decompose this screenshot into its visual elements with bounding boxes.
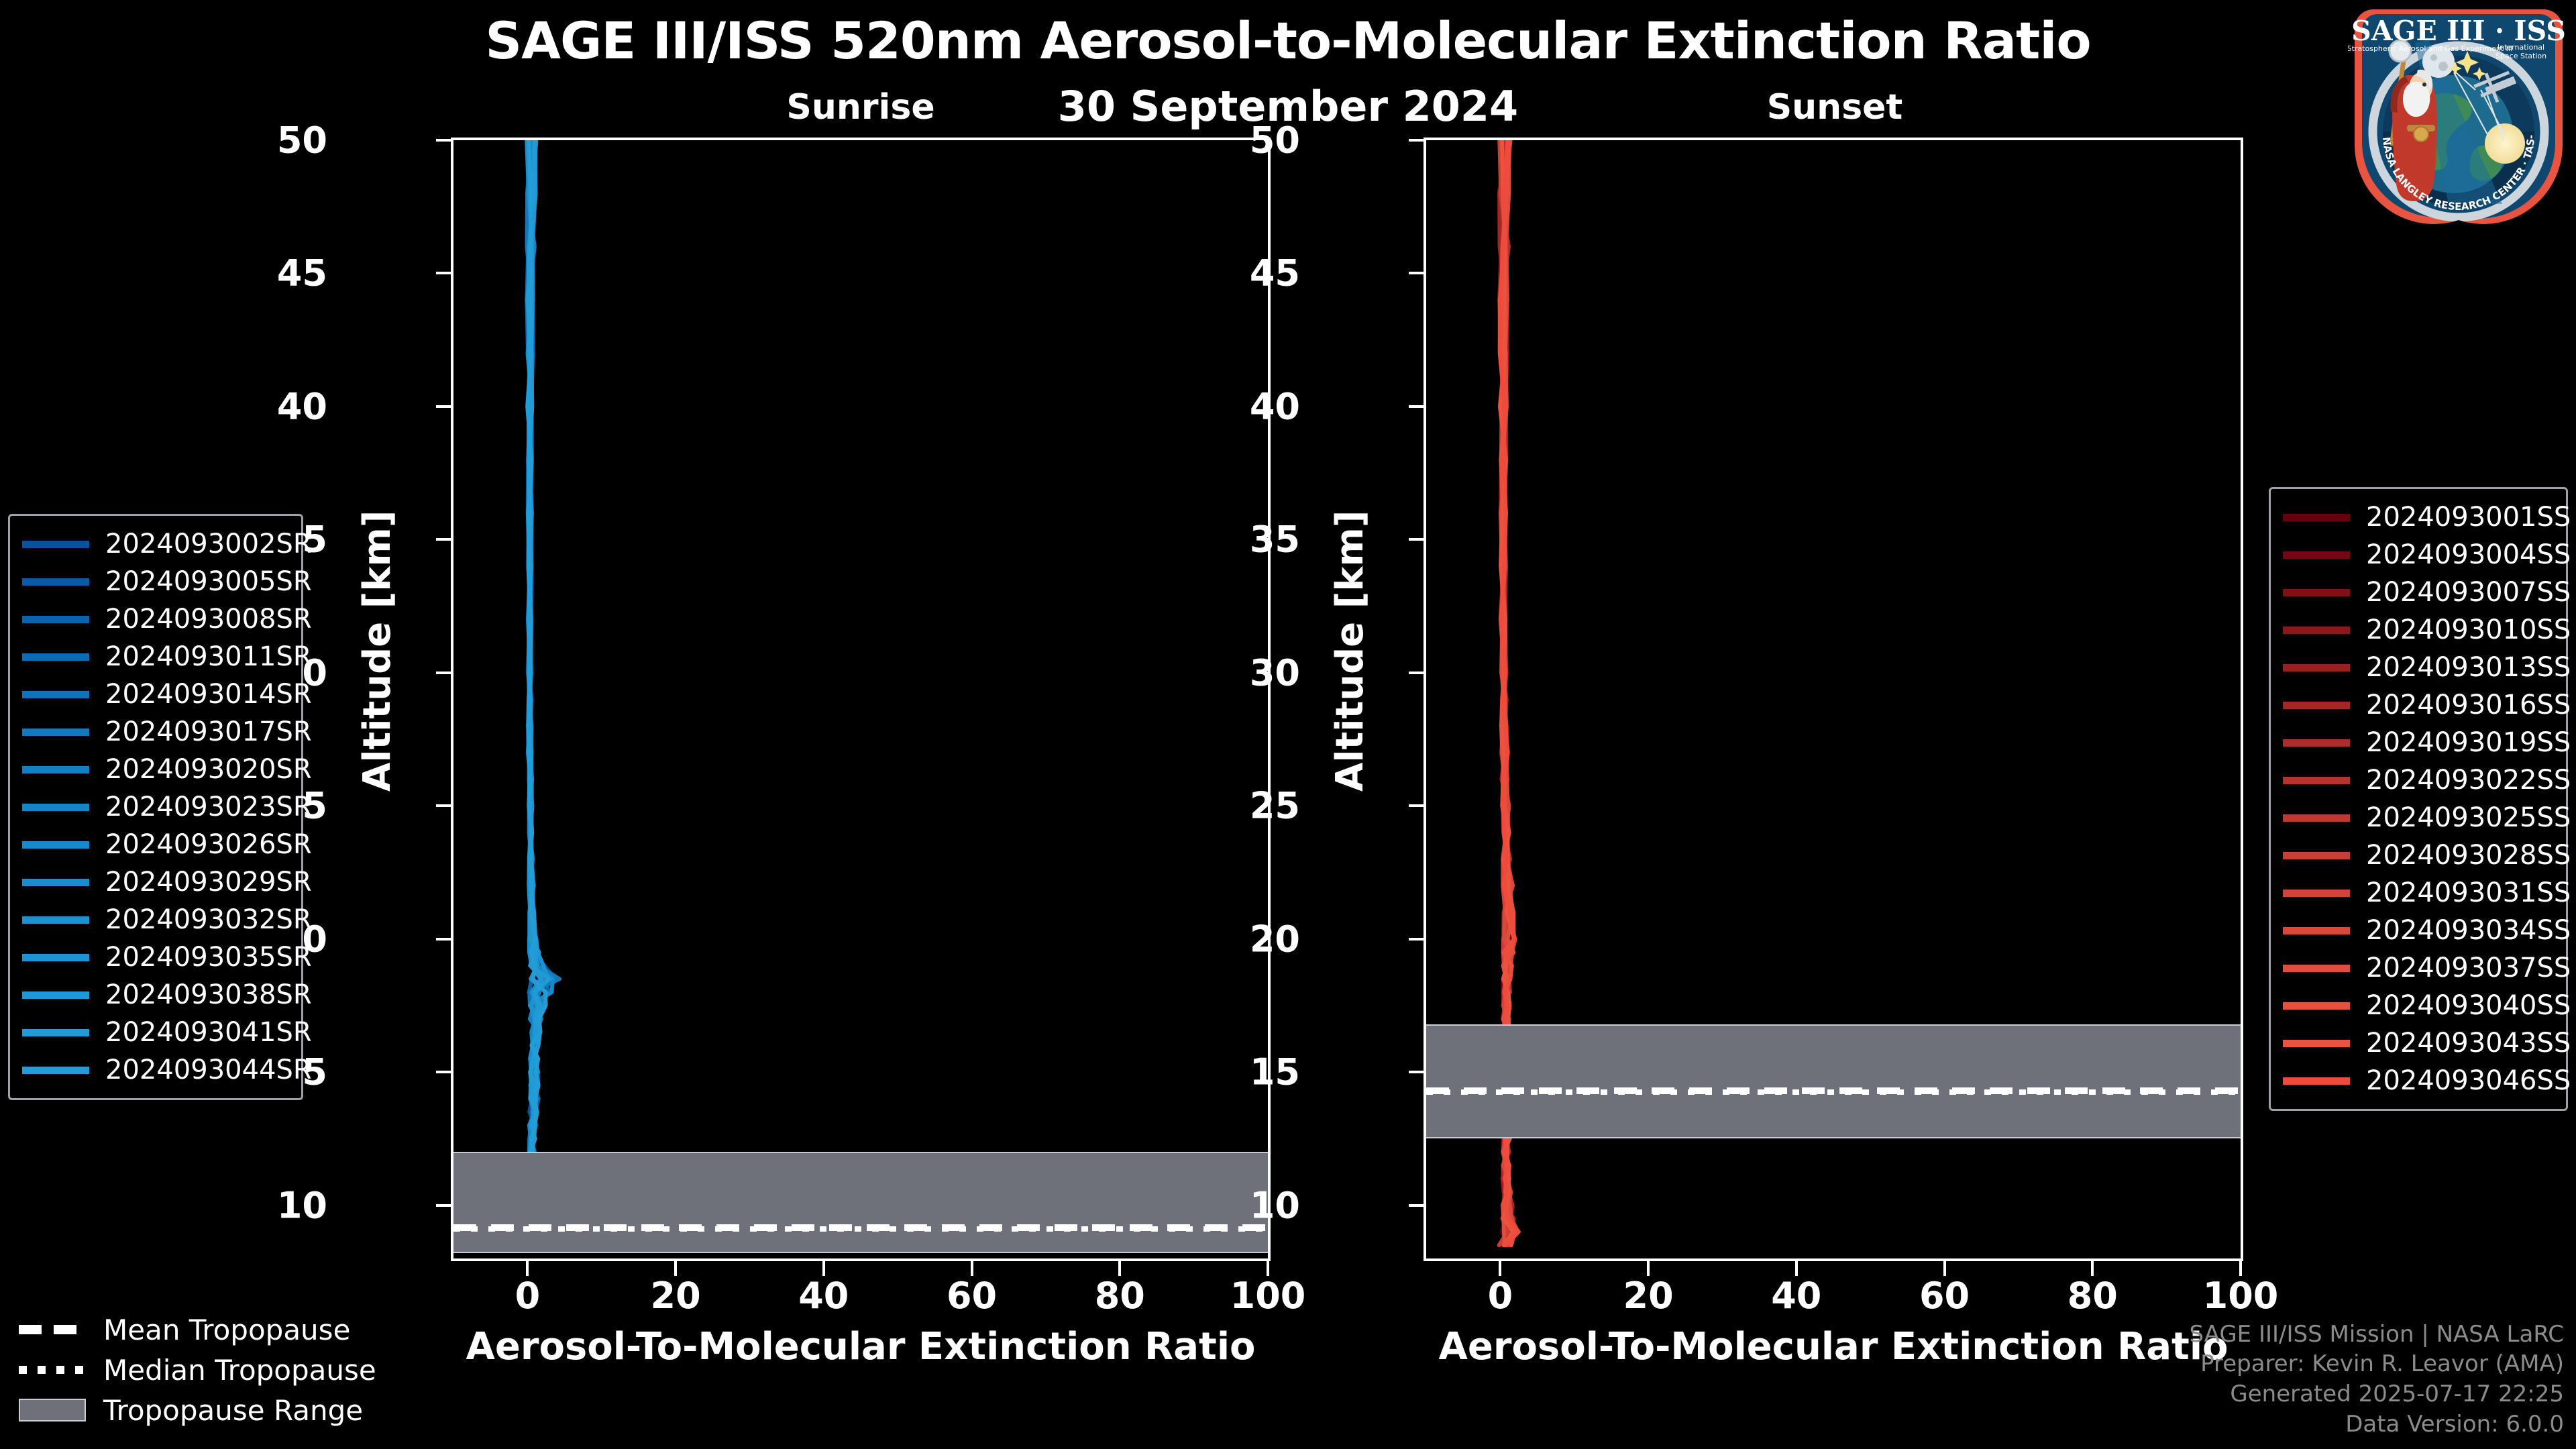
legend-item-label: 2024093013SS: [2366, 652, 2571, 683]
legend-item-label: 2024093034SS: [2366, 915, 2571, 946]
plot-inner-sunrise: [453, 140, 1268, 1258]
legend-item-label: 2024093023SR: [105, 792, 312, 822]
y-axis-tick-mark: [1409, 139, 1424, 142]
y-axis-tick-label: 50: [193, 119, 327, 162]
legend-sunset[interactable]: 2024093001SS2024093004SS2024093007SS2024…: [2269, 487, 2568, 1111]
y-axis-tick-mark: [436, 1071, 451, 1073]
tropopause-key-label: Median Tropopause: [103, 1354, 376, 1387]
logo-subtitle-right-2: Space Station: [2495, 52, 2546, 60]
x-axis-tick-mark: [526, 1261, 529, 1276]
legend-item[interactable]: 2024093023SR: [22, 788, 289, 826]
legend-item-label: 2024093035SR: [105, 942, 312, 973]
legend-item-label: 2024093020SR: [105, 754, 312, 785]
legend-item-label: 2024093011SR: [105, 641, 312, 672]
legend-item[interactable]: 2024093020SR: [22, 751, 289, 788]
x-axis-tick-label: 80: [2012, 1275, 2173, 1317]
median-tropopause-line-sunset: [1426, 1089, 2241, 1095]
legend-color-swatch: [2283, 1040, 2350, 1047]
x-axis-tick-label: 40: [1716, 1275, 1877, 1317]
x-axis-tick-label: 0: [447, 1275, 608, 1317]
legend-item-label: 2024093032SR: [105, 904, 312, 935]
x-axis-tick-mark: [1118, 1261, 1121, 1276]
legend-color-swatch: [22, 729, 89, 736]
x-axis-tick-label: 100: [2160, 1275, 2321, 1317]
legend-color-swatch: [22, 541, 89, 548]
logo-subtitle-left: Stratospheric Aerosol and Gas Experiment…: [2348, 44, 2512, 53]
legend-item[interactable]: 2024093014SR: [22, 676, 289, 713]
legend-item[interactable]: 2024093028SS: [2283, 837, 2554, 874]
legend-item[interactable]: 2024093031SS: [2283, 874, 2554, 912]
legend-color-swatch: [2283, 852, 2350, 859]
legend-color-swatch: [22, 653, 89, 661]
x-axis-tick-mark: [971, 1261, 973, 1276]
tropopause-key-dotted-icon: [19, 1366, 86, 1374]
legend-item-label: 2024093002SR: [105, 529, 312, 559]
tropopause-key-label: Tropopause Range: [103, 1394, 363, 1427]
figure-canvas: SAGE III/ISS 520nm Aerosol-to-Molecular …: [0, 0, 2576, 1449]
y-axis-tick-label: 25: [1166, 785, 1300, 827]
y-axis-tick-label: 45: [1166, 252, 1300, 294]
y-axis-tick-mark: [1409, 1071, 1424, 1073]
y-axis-tick-label: 10: [193, 1184, 327, 1226]
x-axis-title-sunset: Aerosol-To-Molecular Extinction Ratio: [1364, 1325, 2303, 1368]
legend-item-label: 2024093010SS: [2366, 614, 2571, 645]
y-axis-tick-mark: [1409, 672, 1424, 674]
y-axis-tick-label: 45: [193, 252, 327, 294]
y-axis-tick-label: 50: [1166, 119, 1300, 162]
logo-title-text: SAGE III · ISS: [2351, 15, 2566, 47]
tropopause-key-dashed-icon: [19, 1325, 86, 1334]
y-axis-tick-mark: [436, 1204, 451, 1207]
y-axis-tick-label: 20: [1166, 918, 1300, 960]
tropopause-key-item: Tropopause Range: [19, 1390, 394, 1430]
legend-color-swatch: [2283, 890, 2350, 897]
x-axis-tick-label: 0: [1419, 1275, 1580, 1317]
legend-item[interactable]: 2024093001SS: [2283, 498, 2554, 536]
legend-color-swatch: [2283, 965, 2350, 972]
x-axis-tick-mark: [2239, 1261, 2242, 1276]
tropopause-range-band-sunset: [1426, 1024, 2241, 1139]
legend-item[interactable]: 2024093011SR: [22, 638, 289, 676]
x-axis-tick-mark: [1795, 1261, 1798, 1276]
legend-color-swatch: [2283, 814, 2350, 822]
x-axis-tick-mark: [1943, 1261, 1946, 1276]
y-axis-tick-mark: [1409, 804, 1424, 807]
legend-color-swatch: [22, 1029, 89, 1036]
y-axis-tick-mark: [1409, 405, 1424, 408]
legend-color-swatch: [2283, 702, 2350, 709]
legend-item-label: 2024093007SS: [2366, 577, 2571, 608]
legend-item[interactable]: 2024093034SS: [2283, 912, 2554, 949]
legend-color-swatch: [2283, 927, 2350, 934]
x-axis-tick-mark: [1647, 1261, 1650, 1276]
x-axis-tick-mark: [1499, 1261, 1501, 1276]
legend-item-label: 2024093008SR: [105, 604, 312, 635]
legend-item-label: 2024093026SR: [105, 829, 312, 860]
legend-color-swatch: [22, 916, 89, 924]
legend-item-label: 2024093014SR: [105, 679, 312, 710]
legend-item[interactable]: 2024093040SS: [2283, 987, 2554, 1024]
tropopause-range-band-sunrise: [453, 1152, 1268, 1253]
legend-item-label: 2024093046SS: [2366, 1065, 2571, 1096]
tropopause-key-patch-icon: [19, 1399, 86, 1421]
x-axis-tick-label: 20: [1568, 1275, 1729, 1317]
x-axis-tick-mark: [2091, 1261, 2094, 1276]
credits-block: SAGE III/ISS Mission | NASA LaRCPreparer…: [2189, 1320, 2564, 1440]
x-axis-title-sunrise: Aerosol-To-Molecular Extinction Ratio: [391, 1325, 1330, 1368]
legend-item[interactable]: 2024093008SR: [22, 600, 289, 638]
y-axis-title-sunrise: Altitude [km]: [356, 511, 399, 792]
legend-item-label: 2024093025SS: [2366, 802, 2571, 833]
legend-item-label: 2024093022SS: [2366, 765, 2571, 796]
legend-item[interactable]: 2024093032SR: [22, 901, 289, 938]
legend-item[interactable]: 2024093044SR: [22, 1051, 289, 1089]
legend-item[interactable]: 2024093019SS: [2283, 724, 2554, 761]
legend-item[interactable]: 2024093046SS: [2283, 1062, 2554, 1099]
sage-iii-iss-logo-icon: SAGE III · ISS Stratospheric Aerosol and…: [2348, 3, 2569, 224]
legend-item[interactable]: 2024093025SS: [2283, 799, 2554, 837]
legend-color-swatch: [22, 954, 89, 961]
tropopause-key-label: Mean Tropopause: [103, 1313, 350, 1346]
y-axis-tick-label: 15: [1166, 1051, 1300, 1093]
legend-item-label: 2024093044SR: [105, 1055, 312, 1085]
y-axis-title-sunset: Altitude [km]: [1328, 511, 1372, 792]
y-axis-tick-mark: [436, 272, 451, 274]
legend-item-label: 2024093005SR: [105, 566, 312, 597]
x-axis-tick-label: 60: [1864, 1275, 2025, 1317]
legend-item[interactable]: 2024093035SR: [22, 938, 289, 976]
legend-item-label: 2024093041SR: [105, 1017, 312, 1048]
tropopause-key-item: Mean Tropopause: [19, 1309, 394, 1350]
legend-color-swatch: [22, 879, 89, 886]
legend-color-swatch: [22, 766, 89, 773]
x-axis-tick-mark: [1267, 1261, 1269, 1276]
legend-color-swatch: [2283, 1002, 2350, 1010]
legend-sunrise[interactable]: 2024093002SR2024093005SR2024093008SR2024…: [8, 514, 303, 1100]
legend-color-swatch: [22, 804, 89, 811]
legend-item[interactable]: 2024093022SS: [2283, 761, 2554, 799]
y-axis-tick-label: 40: [1166, 385, 1300, 427]
legend-item-label: 2024093016SS: [2366, 690, 2571, 720]
y-axis-tick-mark: [436, 139, 451, 142]
legend-item-label: 2024093017SR: [105, 716, 312, 747]
legend-color-swatch: [22, 991, 89, 999]
legend-item-label: 2024093001SS: [2366, 502, 2571, 533]
tropopause-key-item: Median Tropopause: [19, 1350, 394, 1390]
credits-line: Preparer: Kevin R. Leavor (AMA): [2189, 1349, 2564, 1379]
legend-item[interactable]: 2024093005SR: [22, 563, 289, 600]
legend-color-swatch: [22, 841, 89, 849]
y-axis-tick-mark: [1409, 538, 1424, 541]
plot-inner-sunset: [1426, 140, 2241, 1258]
legend-item-label: 2024093037SS: [2366, 953, 2571, 983]
legend-item[interactable]: 2024093017SR: [22, 713, 289, 751]
legend-color-swatch: [22, 578, 89, 586]
y-axis-tick-mark: [1409, 1204, 1424, 1207]
y-axis-tick-label: 40: [193, 385, 327, 427]
legend-item[interactable]: 2024093007SS: [2283, 574, 2554, 611]
legend-item[interactable]: 2024093010SS: [2283, 611, 2554, 649]
legend-item-label: 2024093029SR: [105, 867, 312, 898]
legend-item-label: 2024093019SS: [2366, 727, 2571, 758]
panel-heading-sunrise: Sunrise: [720, 87, 1002, 127]
page-title: SAGE III/ISS 520nm Aerosol-to-Molecular …: [0, 11, 2576, 70]
legend-color-swatch: [2283, 551, 2350, 559]
y-axis-tick-mark: [436, 804, 451, 807]
legend-item-label: 2024093043SS: [2366, 1028, 2571, 1059]
legend-color-swatch: [2283, 777, 2350, 784]
y-axis-tick-label: 10: [1166, 1184, 1300, 1226]
y-axis-tick-mark: [436, 938, 451, 941]
legend-color-swatch: [2283, 589, 2350, 596]
legend-color-swatch: [2283, 1077, 2350, 1085]
profile-curves-sunrise: [453, 140, 1268, 1258]
x-axis-tick-label: 80: [1039, 1275, 1200, 1317]
legend-item[interactable]: 2024093026SR: [22, 826, 289, 863]
legend-item[interactable]: 2024093016SS: [2283, 686, 2554, 724]
x-axis-tick-mark: [822, 1261, 825, 1276]
plot-area-sunrise: [451, 138, 1271, 1261]
legend-item[interactable]: 2024093041SR: [22, 1014, 289, 1051]
legend-item-label: 2024093031SS: [2366, 877, 2571, 908]
legend-color-swatch: [22, 616, 89, 623]
median-tropopause-line-sunrise: [453, 1226, 1268, 1232]
legend-color-swatch: [22, 1067, 89, 1074]
y-axis-tick-mark: [436, 672, 451, 674]
y-axis-tick-label: 35: [1166, 519, 1300, 561]
y-axis-tick-mark: [1409, 272, 1424, 274]
x-axis-tick-label: 40: [743, 1275, 904, 1317]
legend-item[interactable]: 2024093038SR: [22, 976, 289, 1014]
legend-item[interactable]: 2024093037SS: [2283, 949, 2554, 987]
x-axis-tick-mark: [674, 1261, 677, 1276]
credits-line: Generated 2025-07-17 22:25: [2189, 1379, 2564, 1409]
legend-color-swatch: [2283, 739, 2350, 747]
legend-color-swatch: [2283, 627, 2350, 634]
credits-line: Data Version: 6.0.0: [2189, 1409, 2564, 1440]
legend-item[interactable]: 2024093013SS: [2283, 649, 2554, 686]
legend-color-swatch: [2283, 664, 2350, 672]
plot-area-sunset: [1424, 138, 2243, 1261]
legend-item-label: 2024093040SS: [2366, 990, 2571, 1021]
legend-color-swatch: [22, 691, 89, 698]
y-axis-tick-mark: [436, 538, 451, 541]
legend-item[interactable]: 2024093029SR: [22, 863, 289, 901]
panel-heading-sunset: Sunset: [1694, 87, 1976, 127]
legend-item[interactable]: 2024093002SR: [22, 525, 289, 563]
legend-item-label: 2024093028SS: [2366, 840, 2571, 871]
logo-subtitle-right-1: International: [2498, 43, 2544, 52]
x-axis-tick-label: 60: [892, 1275, 1053, 1317]
legend-item[interactable]: 2024093043SS: [2283, 1024, 2554, 1062]
y-axis-tick-label: 30: [1166, 651, 1300, 694]
x-axis-tick-label: 100: [1187, 1275, 1348, 1317]
y-axis-tick-mark: [1409, 938, 1424, 941]
legend-item[interactable]: 2024093004SS: [2283, 536, 2554, 574]
legend-color-swatch: [2283, 514, 2350, 521]
y-axis-tick-mark: [436, 405, 451, 408]
legend-item-label: 2024093038SR: [105, 979, 312, 1010]
credits-line: SAGE III/ISS Mission | NASA LaRC: [2189, 1320, 2564, 1350]
legend-item-label: 2024093004SS: [2366, 539, 2571, 570]
x-axis-tick-label: 20: [595, 1275, 756, 1317]
legend-tropopause-key: Mean TropopauseMedian TropopauseTropopau…: [19, 1309, 394, 1430]
